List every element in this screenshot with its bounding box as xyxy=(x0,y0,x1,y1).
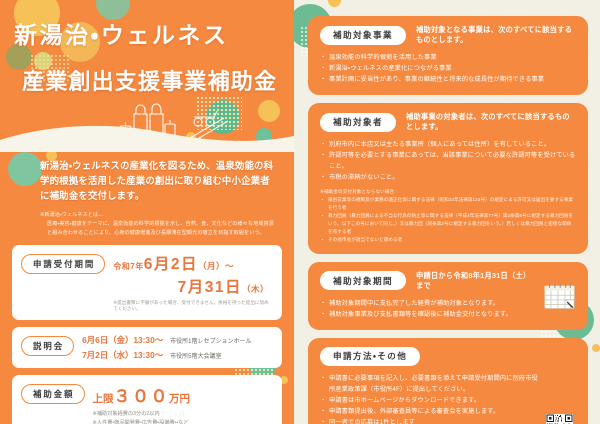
era-label: 令和7年 xyxy=(113,262,143,271)
hero-banner: 新湯治・ウェルネス 産業創出支援事業補助金 xyxy=(0,0,294,152)
bullet-item: 申請書は市ホームページからダウンロードできます。 xyxy=(320,395,538,406)
bullet-item: 補助対象期間中に支払完了した経費が補助対象となります。 xyxy=(320,298,536,309)
section-card-how-to-apply: 申請方法・その他 申請書に必要事項を記入し、必要書類を添えて申請受付期間内に別府… xyxy=(308,338,588,424)
section-bullet-list: 補助対象期間中に支払完了した経費が補助対象となります。 補助対象事業及び支払書類… xyxy=(320,298,536,320)
subsidy-amount-notes: ※補助対象経費の3分の2以内 ※人件費・商品開発費・広告費・設備費・・など xyxy=(93,410,274,424)
subsidy-note: ※人件費・商品開発費・広告費・設備費・・など xyxy=(93,419,274,424)
subsidy-amount-body: 上限３００万円 ※補助対象経費の3分の2以内 ※人件費・商品開発費・広告費・設備… xyxy=(93,382,274,424)
bullet-item: 別府市内に本店又は主たる事業所（個人にあっては住所）を有していること。 xyxy=(320,139,576,150)
application-period-start: 令和7年6月2日（月）～ xyxy=(113,252,273,274)
end-date: 7月31日 xyxy=(178,279,242,296)
bullet-item: 新湯治・ウェルネスの産業化につながる事業 xyxy=(320,63,576,74)
definition-note-heading: ※新湯治・ウェルネスとは… xyxy=(40,211,278,220)
application-period-body: 令和7年6月2日（月）～ 7月31日（木） ※提出書類に不備があった場合、受付で… xyxy=(113,252,273,312)
poster-page: 新湯治・ウェルネス 産業創出支援事業補助金 xyxy=(0,0,600,424)
poster-title: 新湯治・ウェルネス xyxy=(14,16,294,50)
poster-title-group: 新湯治・ウェルネス 産業創出支援事業補助金 xyxy=(0,0,294,96)
briefing-place: 市役所5階大会議室 xyxy=(170,351,221,360)
bullet-item: 事業計画に妥当性があり、事業の継続性と将来的な成長性が期待できる事業 xyxy=(320,74,576,85)
lead-text-block: 新湯治・ウェルネスの産業化を図るため、温泉効能の科学的根拠を活用した産業の創出に… xyxy=(0,152,294,237)
start-dow: （月）～ xyxy=(198,261,234,271)
note-item: 風俗営業等の規制及び業務の適正化等に関する法律（昭和23年法律第122号）の規定… xyxy=(320,196,576,212)
section-card-eligible-period: 補助対象期間 申請日から令和8年1月31日（土）まで 補助対象期間中に支払完了し… xyxy=(308,262,588,330)
bullet-item: 市税の滞納がないこと。 xyxy=(320,172,576,183)
cap-prefix: 上限 xyxy=(93,393,114,405)
application-period-end: 7月31日（木） xyxy=(113,275,273,297)
briefing-date: 7月2日（水）13:30～ xyxy=(82,349,163,361)
cap-unit: 万円 xyxy=(169,393,190,405)
application-period-row: 申請受付期間 令和7年6月2日（月）～ 7月31日（木） ※提出書類に不備があっ… xyxy=(12,245,282,320)
section-lede: 補助対象となる事業は、次のすべてに該当するものとします。 xyxy=(416,25,576,45)
application-period-note: ※提出書類に不備があった場合、受付できません。余裕を持った提出に努めてください。 xyxy=(113,300,273,312)
bullet-item: 許認可等を必要とする事業にあっては、当該事業について必要な許認可等を受けているこ… xyxy=(320,150,576,172)
section-label: 補助対象事業 xyxy=(320,26,406,45)
exclusion-note-list: 風俗営業等の規制及び業務の適正化等に関する法律（昭和23年法律第122号）の規定… xyxy=(320,196,576,243)
decorative-circle xyxy=(592,344,600,352)
card-header: 補助対象事業 補助対象となる事業は、次のすべてに該当するものとします。 xyxy=(320,25,576,45)
section-bullet-list: 温泉効能の科学的根拠を活用した事業 新湯治・ウェルネスの産業化につながる事業 事… xyxy=(320,52,576,85)
lead-paragraph: 新湯治・ウェルネスの産業化を図るため、温泉効能の科学的根拠を活用した産業の創出に… xyxy=(40,158,278,204)
definition-note: ※新湯治・ウェルネスとは… 医療・美容・健康をテーマに、温泉効能の科学的根拠を示… xyxy=(40,211,278,238)
subsidy-amount-row: 補助金額 上限３００万円 ※補助対象経費の3分の2以内 ※人件費・商品開発費・広… xyxy=(12,375,282,424)
section-label: 補助対象者 xyxy=(320,113,396,132)
card-header: 補助対象者 補助事業の対象者は、次のすべてに該当するものとします。 xyxy=(320,112,576,132)
briefing-row: 説明会 6月6日（金）13:30～ 市役所1階レセプションホール 7月2日（水）… xyxy=(12,327,282,368)
section-bullet-list: 別府市内に本店又は主たる事業所（個人にあっては住所）を有していること。 許認可等… xyxy=(320,139,576,183)
briefing-session: 7月2日（水）13:30～ 市役所5階大会議室 xyxy=(82,349,273,361)
note-item: その他市長が適当でないと認める者 xyxy=(320,236,576,244)
section-lede: 補助事業の対象者は、次のすべてに該当するものとします。 xyxy=(406,112,576,132)
briefing-label: 説明会 xyxy=(21,336,74,356)
note-item: 暴力団員（暴力団員による不当な行為の防止等に関する法律（平成4年法律第77号）第… xyxy=(320,212,576,236)
subsidy-amount-value: 上限３００万円 xyxy=(93,382,274,407)
section-label: 申請方法・その他 xyxy=(320,347,420,366)
section-bullet-list: 申請書に必要事項を記入し、必要書類を添えて申請受付期間内に別府市役所産業政策課（… xyxy=(320,373,538,424)
briefing-session: 6月6日（金）13:30～ 市役所1階レセプションホール xyxy=(82,334,273,346)
subsidy-note: ※補助対象経費の3分の2以内 xyxy=(93,410,274,419)
exclusion-note-heading: ※補助金の交付対象とならない場合 xyxy=(320,189,576,195)
card-header: 申請方法・その他 xyxy=(320,347,538,366)
cap-number: ３００ xyxy=(114,387,170,406)
definition-note-body: 医療・美容・健康をテーマに、温泉効能の科学的根拠を示し、自然、食、文化などの様々… xyxy=(40,220,278,238)
bullet-item: 温泉効能の科学的根拠を活用した事業 xyxy=(320,52,576,63)
qr-code-block[interactable]: 別府市HP xyxy=(542,414,576,424)
calendar-icon xyxy=(544,282,575,309)
left-panel: 新湯治・ウェルネス 産業創出支援事業補助金 xyxy=(0,0,294,424)
start-date: 6月2日 xyxy=(144,256,198,273)
end-dow: （木） xyxy=(242,284,269,294)
bullet-item: 同一者での応募は1件とします xyxy=(320,417,538,424)
info-rows: 申請受付期間 令和7年6月2日（月）～ 7月31日（木） ※提出書類に不備があっ… xyxy=(0,245,294,424)
bullet-item: 申請書類提出後、外部審査員等による審査会を実施します。 xyxy=(320,406,538,417)
section-card-eligible-projects: 補助対象事業 補助対象となる事業は、次のすべてに該当するものとします。 温泉効能… xyxy=(308,16,588,95)
briefing-place: 市役所1階レセプションホール xyxy=(170,336,251,345)
decorative-circle xyxy=(258,100,280,122)
section-card-eligible-applicants: 補助対象者 補助事業の対象者は、次のすべてに該当するものとします。 別府市内に本… xyxy=(308,103,588,253)
briefing-body: 6月6日（金）13:30～ 市役所1階レセプションホール 7月2日（水）13:3… xyxy=(82,334,273,361)
section-label: 補助対象期間 xyxy=(320,271,406,290)
bullet-item: 申請書に必要事項を記入し、必要書類を添えて申請受付期間内に別府市役所産業政策課（… xyxy=(320,373,538,395)
wave-divider xyxy=(0,120,294,152)
right-panel: 補助対象事業 補助対象となる事業は、次のすべてに該当するものとします。 温泉効能… xyxy=(294,0,600,424)
application-period-label: 申請受付期間 xyxy=(21,254,105,274)
poster-subtitle: 産業創出支援事業補助金 xyxy=(14,64,294,96)
section-lede: 申請日から令和8年1月31日（土）まで xyxy=(416,271,536,291)
card-header: 補助対象期間 申請日から令和8年1月31日（土）まで xyxy=(320,271,536,291)
briefing-date: 6月6日（金）13:30～ xyxy=(82,334,163,346)
subsidy-amount-label: 補助金額 xyxy=(21,384,85,404)
bullet-item: 補助対象事業及び支払書類等を確認後に補助金交付となります。 xyxy=(320,309,536,320)
qr-code-icon[interactable] xyxy=(546,414,573,424)
decorative-circle xyxy=(328,0,341,7)
